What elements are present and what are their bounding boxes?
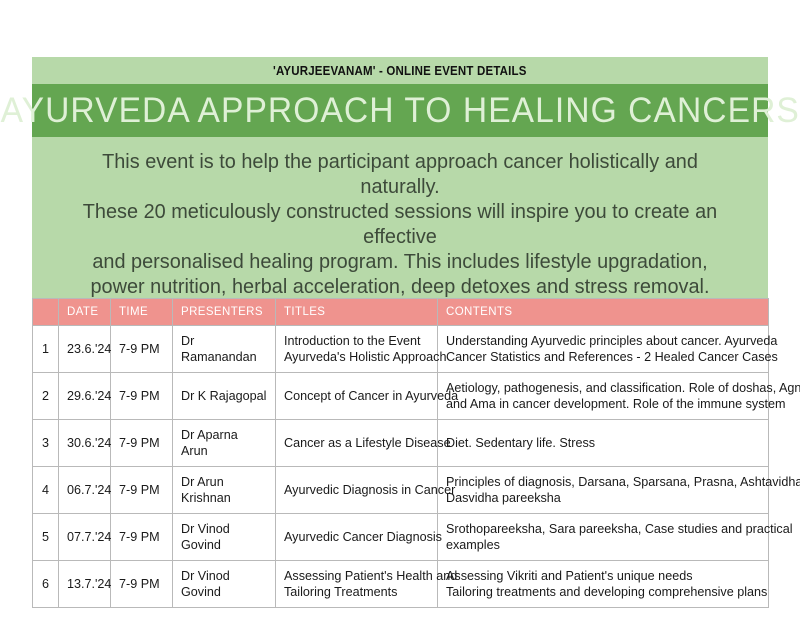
cell-contents: Diet. Sedentary life. Stress <box>438 420 769 467</box>
cell-contents-line: Diet. Sedentary life. Stress <box>446 435 760 451</box>
poster-title: AYURVEDA APPROACH TO HEALING CANCERS <box>0 91 799 131</box>
cell-title-line: Concept of Cancer in Ayurveda <box>284 388 429 404</box>
cell-contents-line: Dasvidha pareeksha <box>446 490 760 506</box>
cell-contents: Aetiology, pathogenesis, and classificat… <box>438 373 769 420</box>
cell-contents: Understanding Ayurvedic principles about… <box>438 326 769 373</box>
column-header-time: TIME <box>111 299 173 326</box>
eyebrow-band: 'AYURJEEVANAM' - ONLINE EVENT DETAILS <box>32 57 768 84</box>
column-header-contents: CONTENTS <box>438 299 769 326</box>
cell-date: 07.7.'24 <box>59 514 111 561</box>
cell-index: 6 <box>33 561 59 608</box>
cell-index: 2 <box>33 373 59 420</box>
column-header-date: DATE <box>59 299 111 326</box>
cell-presenter: Dr Ramanandan <box>173 326 276 373</box>
schedule-table-wrapper: DATE TIME PRESENTERS TITLES CONTENTS 123… <box>32 298 768 608</box>
cell-title-line: Tailoring Treatments <box>284 584 429 600</box>
cell-contents: Assessing Vikriti and Patient's unique n… <box>438 561 769 608</box>
cell-time: 7-9 PM <box>111 373 173 420</box>
column-header-index <box>33 299 59 326</box>
cell-time: 7-9 PM <box>111 326 173 373</box>
cell-contents-line: Aetiology, pathogenesis, and classificat… <box>446 380 760 396</box>
poster-page: 'AYURJEEVANAM' - ONLINE EVENT DETAILS AY… <box>0 0 800 618</box>
description-line-4: power nutrition, herbal acceleration, de… <box>64 274 735 299</box>
table-header-row: DATE TIME PRESENTERS TITLES CONTENTS <box>33 299 769 326</box>
cell-presenter: Dr Vinod Govind <box>173 561 276 608</box>
cell-date: 23.6.'24 <box>59 326 111 373</box>
cell-presenter: Dr K Rajagopal <box>173 373 276 420</box>
cell-title-line: Assessing Patient's Health and <box>284 568 429 584</box>
cell-date: 29.6.'24 <box>59 373 111 420</box>
cell-presenter: Dr Vinod Govind <box>173 514 276 561</box>
column-header-presenters: PRESENTERS <box>173 299 276 326</box>
table-row: 507.7.'247-9 PMDr Vinod GovindAyurvedic … <box>33 514 769 561</box>
cell-presenter: Dr Arun Krishnan <box>173 467 276 514</box>
cell-contents-line: Srothopareeksha, Sara pareeksha, Case st… <box>446 521 760 537</box>
poster-description: This event is to help the participant ap… <box>32 137 768 303</box>
table-row: 330.6.'247-9 PMDr Aparna ArunCancer as a… <box>33 420 769 467</box>
table-row: 406.7.'247-9 PMDr Arun KrishnanAyurvedic… <box>33 467 769 514</box>
cell-title: Ayurvedic Cancer Diagnosis <box>276 514 438 561</box>
cell-contents-line: Understanding Ayurvedic principles about… <box>446 333 760 349</box>
table-row: 123.6.'247-9 PMDr RamanandanIntroduction… <box>33 326 769 373</box>
cell-date: 30.6.'24 <box>59 420 111 467</box>
cell-title: Concept of Cancer in Ayurveda <box>276 373 438 420</box>
cell-time: 7-9 PM <box>111 467 173 514</box>
cell-time: 7-9 PM <box>111 561 173 608</box>
schedule-table: DATE TIME PRESENTERS TITLES CONTENTS 123… <box>32 298 769 608</box>
schedule-table-body: 123.6.'247-9 PMDr RamanandanIntroduction… <box>33 326 769 608</box>
cell-index: 4 <box>33 467 59 514</box>
cell-contents: Principles of diagnosis, Darsana, Sparsa… <box>438 467 769 514</box>
cell-presenter: Dr Aparna Arun <box>173 420 276 467</box>
cell-title-line: Ayurvedic Cancer Diagnosis <box>284 529 429 545</box>
cell-title: Assessing Patient's Health andTailoring … <box>276 561 438 608</box>
cell-contents-line: Principles of diagnosis, Darsana, Sparsa… <box>446 474 760 490</box>
cell-index: 3 <box>33 420 59 467</box>
cell-contents-line: Tailoring treatments and developing comp… <box>446 584 760 600</box>
cell-contents-line: Assessing Vikriti and Patient's unique n… <box>446 568 760 584</box>
event-eyebrow-text: 'AYURJEEVANAM' - ONLINE EVENT DETAILS <box>273 64 527 78</box>
description-line-3: and personalised healing program. This i… <box>64 249 735 274</box>
cell-index: 1 <box>33 326 59 373</box>
cell-time: 7-9 PM <box>111 420 173 467</box>
cell-title-line: Cancer as a Lifestyle Disease <box>284 435 429 451</box>
table-row: 229.6.'247-9 PMDr K RajagopalConcept of … <box>33 373 769 420</box>
cell-contents-line: Cancer Statistics and References - 2 Hea… <box>446 349 760 365</box>
cell-title-line: Introduction to the Event <box>284 333 429 349</box>
title-band: AYURVEDA APPROACH TO HEALING CANCERS <box>32 84 768 137</box>
cell-title-line: Ayurvedic Diagnosis in Cancer <box>284 482 429 498</box>
cell-title: Introduction to the EventAyurveda's Holi… <box>276 326 438 373</box>
cell-title-line: Ayurveda's Holistic Approach <box>284 349 429 365</box>
description-line-2: These 20 meticulously constructed sessio… <box>64 199 735 249</box>
cell-contents-line: examples <box>446 537 760 553</box>
description-line-1: This event is to help the participant ap… <box>64 149 735 199</box>
table-row: 613.7.'247-9 PMDr Vinod GovindAssessing … <box>33 561 769 608</box>
cell-title: Cancer as a Lifestyle Disease <box>276 420 438 467</box>
cell-title: Ayurvedic Diagnosis in Cancer <box>276 467 438 514</box>
cell-time: 7-9 PM <box>111 514 173 561</box>
cell-contents-line: and Ama in cancer development. Role of t… <box>446 396 760 412</box>
cell-contents: Srothopareeksha, Sara pareeksha, Case st… <box>438 514 769 561</box>
cell-index: 5 <box>33 514 59 561</box>
cell-date: 13.7.'24 <box>59 561 111 608</box>
cell-date: 06.7.'24 <box>59 467 111 514</box>
column-header-titles: TITLES <box>276 299 438 326</box>
